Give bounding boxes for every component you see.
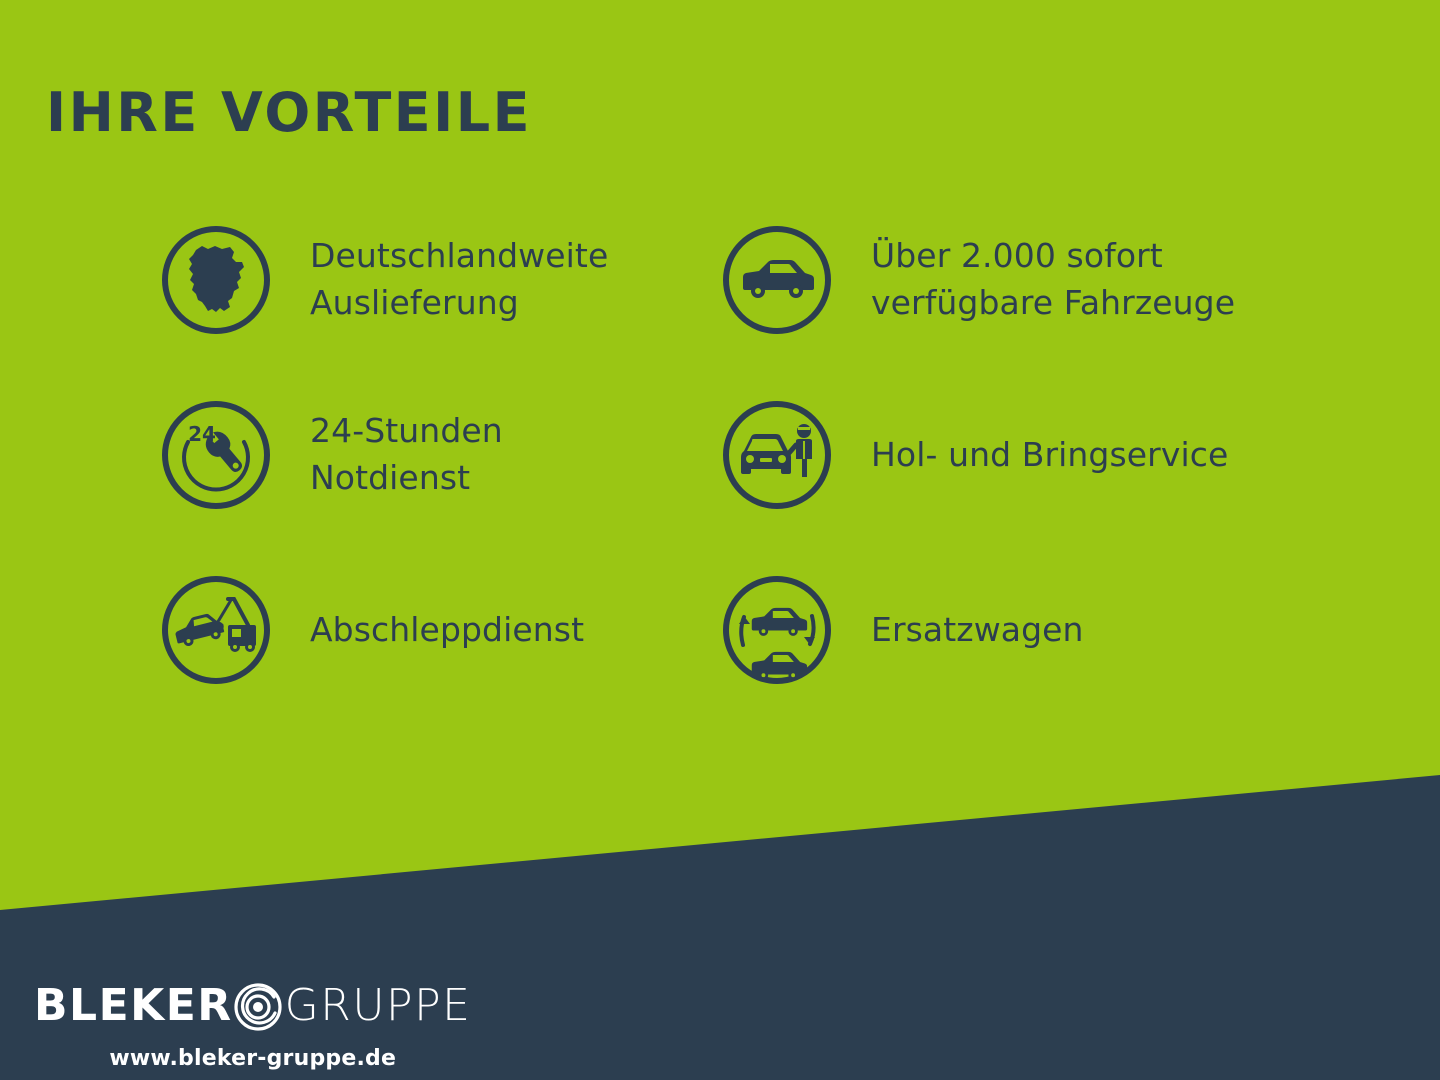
slide-root: IHRE VORTEILE Deutschlandweite Ausliefer… — [0, 0, 1440, 1080]
benefit-label: Hol- und Bringservice — [871, 432, 1228, 479]
logo-wordmark: BLEKER GRUPPE — [34, 975, 471, 1037]
24-hour-wrench-icon: 24 — [158, 397, 274, 513]
benefit-row: Deutschlandweite Auslieferung Über 2.000… — [0, 222, 1440, 397]
company-logo[interactable]: BLEKER GRUPPE www.bleker-gruppe.de — [34, 975, 471, 1071]
logo-secondary-text: GRUPPE — [285, 984, 472, 1028]
benefit-item-deutschlandweite-auslieferung[interactable]: Deutschlandweite Auslieferung — [158, 222, 608, 338]
benefits-grid: Deutschlandweite Auslieferung Über 2.000… — [0, 222, 1440, 747]
benefit-label: 24-Stunden Notdienst — [310, 408, 503, 502]
germany-map-icon — [158, 222, 274, 338]
car-side-icon — [719, 222, 835, 338]
benefit-row: 24 24-Stunden Notdienst — [0, 397, 1440, 572]
car-exchange-icon — [719, 572, 835, 688]
tow-truck-icon — [158, 572, 274, 688]
benefit-item-ersatzwagen[interactable]: Ersatzwagen — [719, 572, 1084, 688]
benefit-item-24-stunden-notdienst[interactable]: 24 24-Stunden Notdienst — [158, 397, 503, 513]
benefit-label: Deutschlandweite Auslieferung — [310, 233, 608, 327]
benefit-label: Über 2.000 sofort verfügbare Fahrzeuge — [871, 233, 1235, 327]
page-title: IHRE VORTEILE — [46, 86, 532, 140]
benefit-label: Abschleppdienst — [310, 607, 584, 654]
spiral-circles-icon — [227, 975, 289, 1037]
benefit-item-verfuegbare-fahrzeuge[interactable]: Über 2.000 sofort verfügbare Fahrzeuge — [719, 222, 1235, 338]
logo-primary-text: BLEKER — [34, 984, 233, 1028]
car-with-driver-icon — [719, 397, 835, 513]
logo-website-url[interactable]: www.bleker-gruppe.de — [109, 1046, 396, 1071]
benefit-label: Ersatzwagen — [871, 607, 1084, 654]
benefit-row: Abschleppdienst — [0, 572, 1440, 747]
benefit-item-abschleppdienst[interactable]: Abschleppdienst — [158, 572, 584, 688]
benefit-item-hol-und-bringservice[interactable]: Hol- und Bringservice — [719, 397, 1228, 513]
